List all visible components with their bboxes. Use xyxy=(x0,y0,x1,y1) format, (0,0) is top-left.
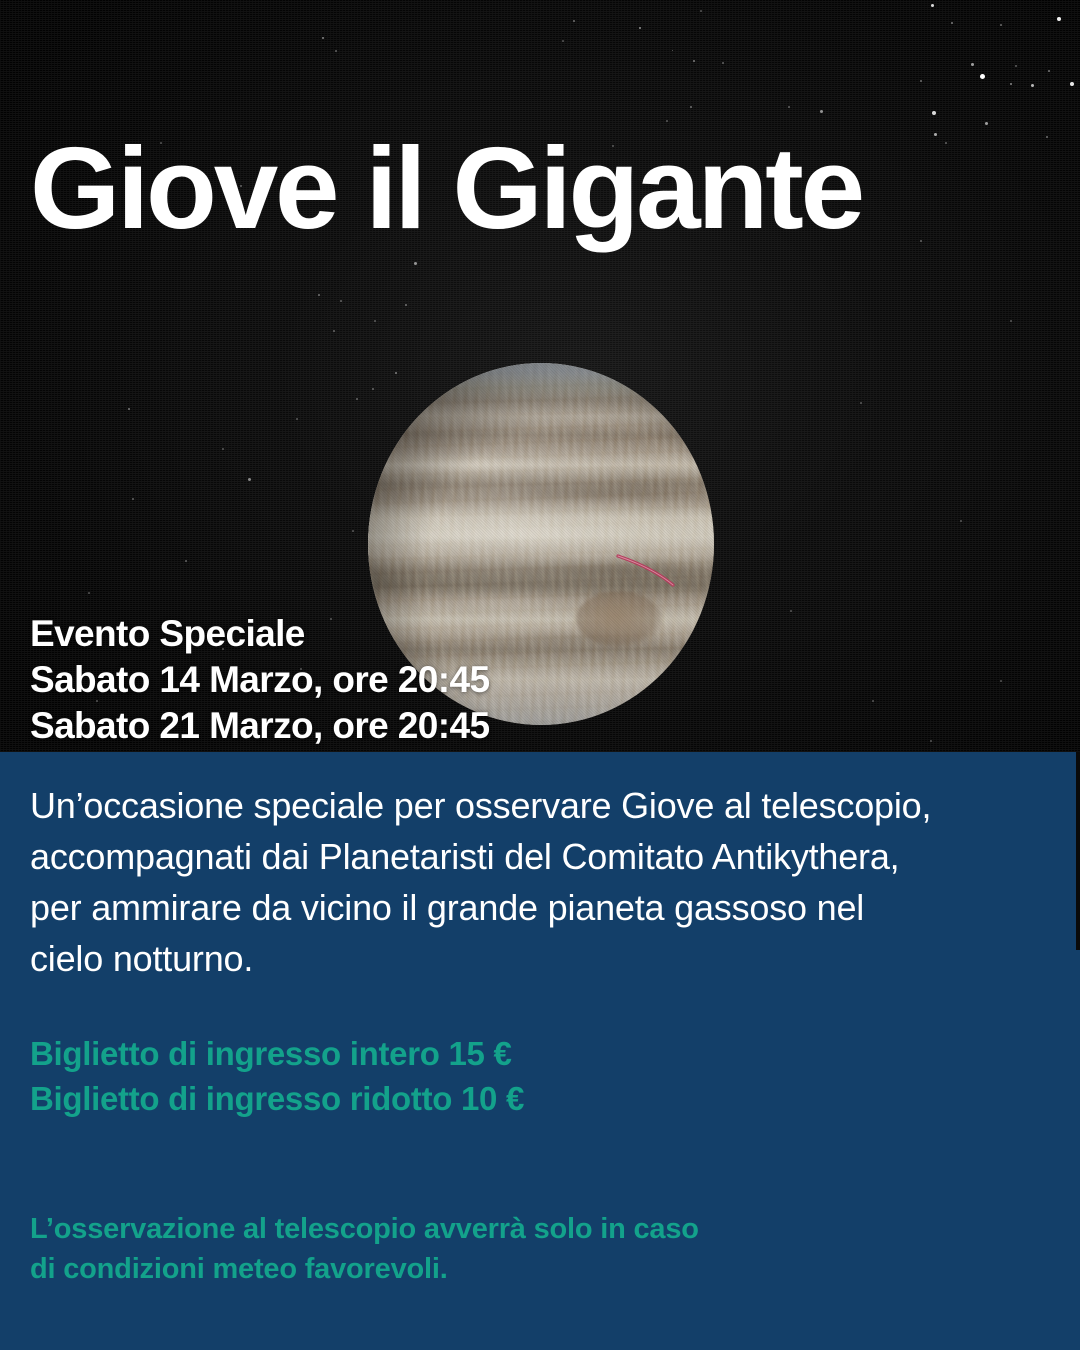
weather-disclaimer: L’osservazione al telescopio avverrà sol… xyxy=(30,1209,699,1289)
event-date-2: Sabato 21 Marzo, ore 20:45 xyxy=(30,703,489,749)
event-date-1: Sabato 14 Marzo, ore 20:45 xyxy=(30,657,489,703)
ticket-reduced-price: Biglietto di ingresso ridotto 10 € xyxy=(30,1076,524,1121)
description-text: Un’occasione speciale per osservare Giov… xyxy=(30,780,1040,984)
description-line-2: accompagnati dai Planetaristi del Comita… xyxy=(30,831,1040,882)
weather-disclaimer-line-1: L’osservazione al telescopio avverrà sol… xyxy=(30,1209,699,1249)
description-line-1: Un’occasione speciale per osservare Giov… xyxy=(30,780,1040,831)
description-line-4: cielo notturno. xyxy=(30,933,1040,984)
event-poster: Giove il Gigante Evento Speciale Sabato … xyxy=(0,0,1080,1350)
ticket-full-price: Biglietto di ingresso intero 15 € xyxy=(30,1031,524,1076)
description-line-3: per ammirare da vicino il grande pianeta… xyxy=(30,882,1040,933)
ticket-prices: Biglietto di ingresso intero 15 € Biglie… xyxy=(30,1031,524,1121)
right-edge-sliver xyxy=(1076,752,1080,950)
page-title: Giove il Gigante xyxy=(30,130,1050,246)
event-kicker: Evento Speciale xyxy=(30,611,489,657)
event-details: Evento Speciale Sabato 14 Marzo, ore 20:… xyxy=(30,611,489,749)
weather-disclaimer-line-2: di condizioni meteo favorevoli. xyxy=(30,1249,699,1289)
